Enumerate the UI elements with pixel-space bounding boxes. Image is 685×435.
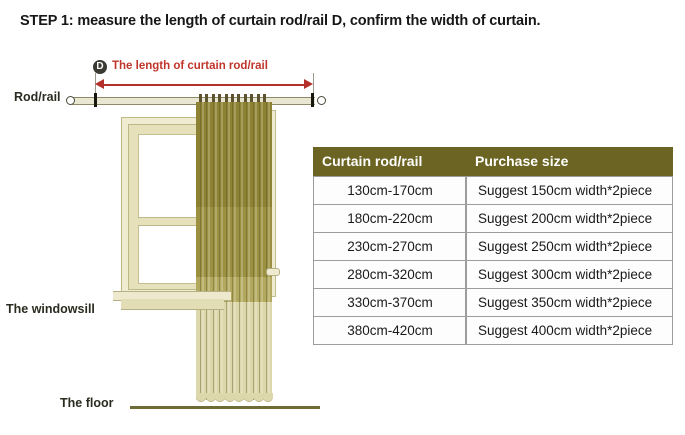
curtain-pleat-highlight [255,102,257,400]
measure-annotation-label: The length of curtain rod/rail [112,60,268,72]
curtain-pleat-line [219,102,220,400]
cell-purchase-size: Suggest 350cm width*2piece [466,289,673,317]
cell-rod-range: 230cm-270cm [313,233,466,261]
curtain-pleat-highlight [234,102,236,400]
curtain-pleat-highlight [202,102,204,400]
curtain-pleat-line [259,102,260,400]
curtain-pleat-line [200,102,201,400]
curtain-rod [72,97,315,105]
curtain-measurement-diagram: D The length of curtain rod/rail Rod/rai… [0,0,340,435]
cell-purchase-size: Suggest 400cm width*2piece [466,317,673,345]
curtain-tieback [266,268,280,276]
curtain-pleat-line [213,102,214,400]
curtain-hem [196,392,272,402]
curtain-pleat-line [246,102,247,400]
cell-purchase-size: Suggest 300cm width*2piece [466,261,673,289]
table-row: 180cm-220cmSuggest 200cm width*2piece [313,205,673,233]
table-header: Curtain rod/rail Purchase size [313,147,673,176]
cell-rod-range: 280cm-320cm [313,261,466,289]
curtain-pleat-line [239,102,240,400]
windowsill-body [121,299,224,310]
curtain-panel [196,102,272,400]
floor-line [130,406,320,409]
curtain-pleat-highlight [228,102,230,400]
table-body: 130cm-170cmSuggest 150cm width*2piece180… [313,176,673,345]
cell-purchase-size: Suggest 150cm width*2piece [466,176,673,205]
cell-rod-range: 330cm-370cm [313,289,466,317]
curtain-pleat-line [226,102,227,400]
column-header-rod: Curtain rod/rail [313,147,466,176]
table-row: 280cm-320cmSuggest 300cm width*2piece [313,261,673,289]
curtain-hem-scallop [215,393,225,402]
cell-purchase-size: Suggest 250cm width*2piece [466,233,673,261]
curtain-pleat-line [232,102,233,400]
curtain-pleat-highlight [261,102,263,400]
cell-rod-range: 180cm-220cm [313,205,466,233]
table-row: 380cm-420cmSuggest 400cm width*2piece [313,317,673,345]
curtain-hem-scallop [206,393,216,402]
windowsill-label: The windowsill [6,302,95,316]
curtain-pleat-highlight [268,102,270,400]
curtain-hem-scallop [244,393,254,402]
table-header-row: Curtain rod/rail Purchase size [313,147,673,176]
curtain-hem-scallop [263,393,273,402]
column-header-size: Purchase size [466,147,673,176]
curtain-pleat-highlight [248,102,250,400]
curtain-pleat-line [253,102,254,400]
curtain-hem-scallop [225,393,235,402]
rod-finial-right-icon [317,96,326,105]
floor-label: The floor [60,396,113,410]
rod-rail-label: Rod/rail [14,90,61,104]
arrow-right-icon [304,79,313,89]
marker-d-icon: D [93,60,107,74]
cell-purchase-size: Suggest 200cm width*2piece [466,205,673,233]
rod-finial-left-icon [66,96,75,105]
curtain-pleat-highlight [208,102,210,400]
arrow-left-icon [95,79,104,89]
curtain-hem-scallop [254,393,264,402]
curtain-pleat-line [206,102,207,400]
rod-endpoint-tick-left [94,93,97,107]
curtain-pleat-highlight [215,102,217,400]
curtain-hem-scallop [196,393,206,402]
table-row: 230cm-270cmSuggest 250cm width*2piece [313,233,673,261]
measure-arrow-line [100,84,308,86]
table-row: 130cm-170cmSuggest 150cm width*2piece [313,176,673,205]
curtain-hem-scallop [234,393,244,402]
rod-endpoint-tick-right [311,93,314,107]
purchase-size-table: Curtain rod/rail Purchase size 130cm-170… [313,147,673,345]
curtain-pleat-highlight [221,102,223,400]
curtain-pleat-highlight [241,102,243,400]
table-row: 330cm-370cmSuggest 350cm width*2piece [313,289,673,317]
curtain-pleat-line [266,102,267,400]
cell-rod-range: 380cm-420cm [313,317,466,345]
cell-rod-range: 130cm-170cm [313,176,466,205]
